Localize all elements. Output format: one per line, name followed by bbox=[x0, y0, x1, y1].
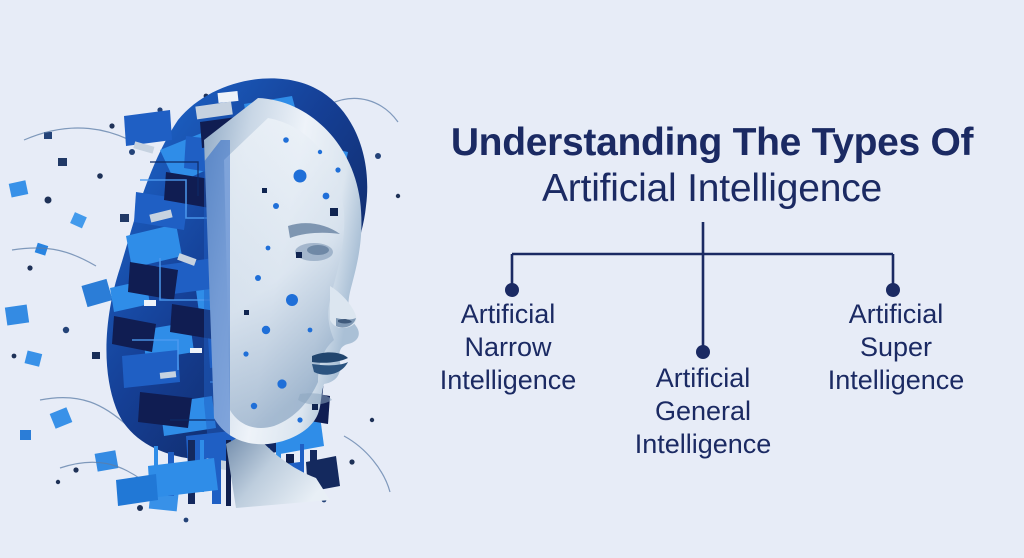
page-title: Understanding The Types Of Artificial In… bbox=[424, 122, 1000, 210]
connector-dot-left bbox=[505, 283, 519, 297]
branch-label-artificial-narrow-intelligence: Artificial Narrow Intelligence bbox=[398, 298, 618, 397]
title-line-1: Understanding The Types Of bbox=[424, 122, 1000, 164]
ai-head-illustration bbox=[0, 0, 420, 558]
branch-label-artificial-general-intelligence: Artificial General Intelligence bbox=[593, 362, 813, 461]
connector-dot-center bbox=[696, 345, 710, 359]
title-line-2: Artificial Intelligence bbox=[424, 168, 1000, 210]
connector-dot-right bbox=[886, 283, 900, 297]
branch-label-artificial-super-intelligence: Artificial Super Intelligence bbox=[786, 298, 1006, 397]
infographic-canvas: Understanding The Types Of Artificial In… bbox=[0, 0, 1024, 558]
